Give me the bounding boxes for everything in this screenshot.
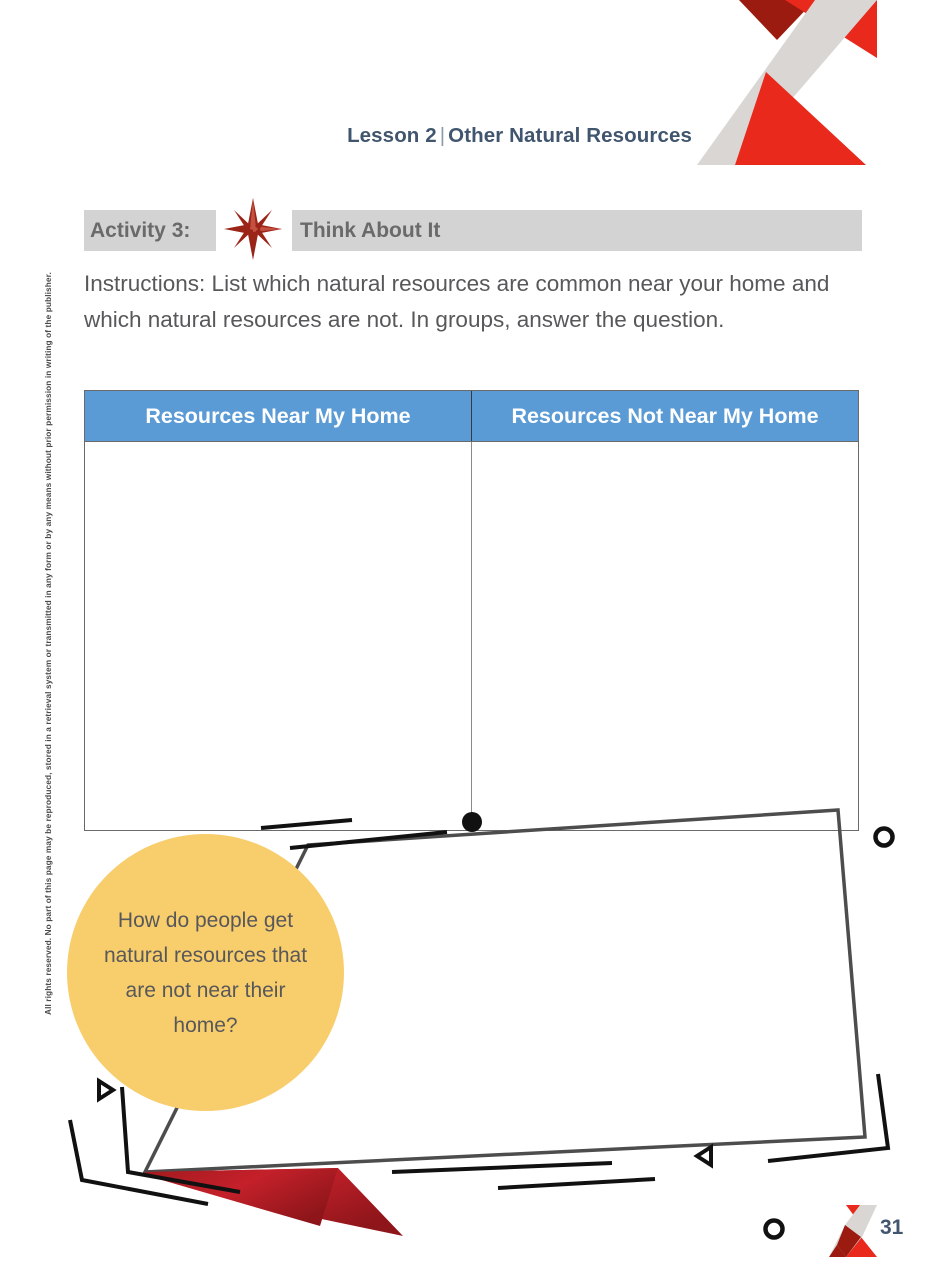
column-header-near: Resources Near My Home <box>85 391 471 441</box>
compass-star-icon <box>222 196 284 262</box>
bracket-right <box>768 1074 888 1161</box>
table-body-row <box>85 441 858 830</box>
page-title: Lesson 2|Other Natural Resources <box>0 124 692 148</box>
circle-outline-icon <box>876 829 893 846</box>
question-text: How do people get natural resources that… <box>98 903 313 1043</box>
pin-dot-icon <box>462 812 482 832</box>
instructions-text: Instructions: List which natural resourc… <box>84 266 874 338</box>
question-bubble: How do people get natural resources that… <box>67 834 344 1111</box>
triangle-right-outline-icon <box>99 1081 113 1099</box>
accent-line-2 <box>290 832 447 848</box>
x-brand-logo-icon <box>697 0 877 165</box>
column-header-not-near: Resources Not Near My Home <box>471 391 858 441</box>
title-separator: | <box>437 124 448 147</box>
page-number: 31 <box>880 1216 903 1240</box>
answer-cell-not-near[interactable] <box>471 442 858 830</box>
table-header-row: Resources Near My Home Resources Not Nea… <box>85 391 858 441</box>
lesson-title-text: Other Natural Resources <box>448 124 692 147</box>
resources-table: Resources Near My Home Resources Not Nea… <box>84 390 859 831</box>
worksheet-page: Lesson 2|Other Natural Resources Activit… <box>0 0 945 1276</box>
footer-x-brand-logo-icon <box>829 1205 877 1257</box>
lesson-label: Lesson 2 <box>347 124 437 147</box>
circle-outline-icon-footer <box>766 1221 783 1238</box>
accent-line-1 <box>261 820 352 828</box>
triangle-left-outline-icon <box>697 1147 711 1165</box>
answer-cell-near[interactable] <box>85 442 471 830</box>
activity-number-label: Activity 3: <box>84 210 216 251</box>
bracket-left-2 <box>70 1120 208 1204</box>
accent-line-3 <box>392 1163 612 1172</box>
activity-title-label: Think About It <box>292 210 862 251</box>
accent-line-4 <box>498 1179 655 1188</box>
